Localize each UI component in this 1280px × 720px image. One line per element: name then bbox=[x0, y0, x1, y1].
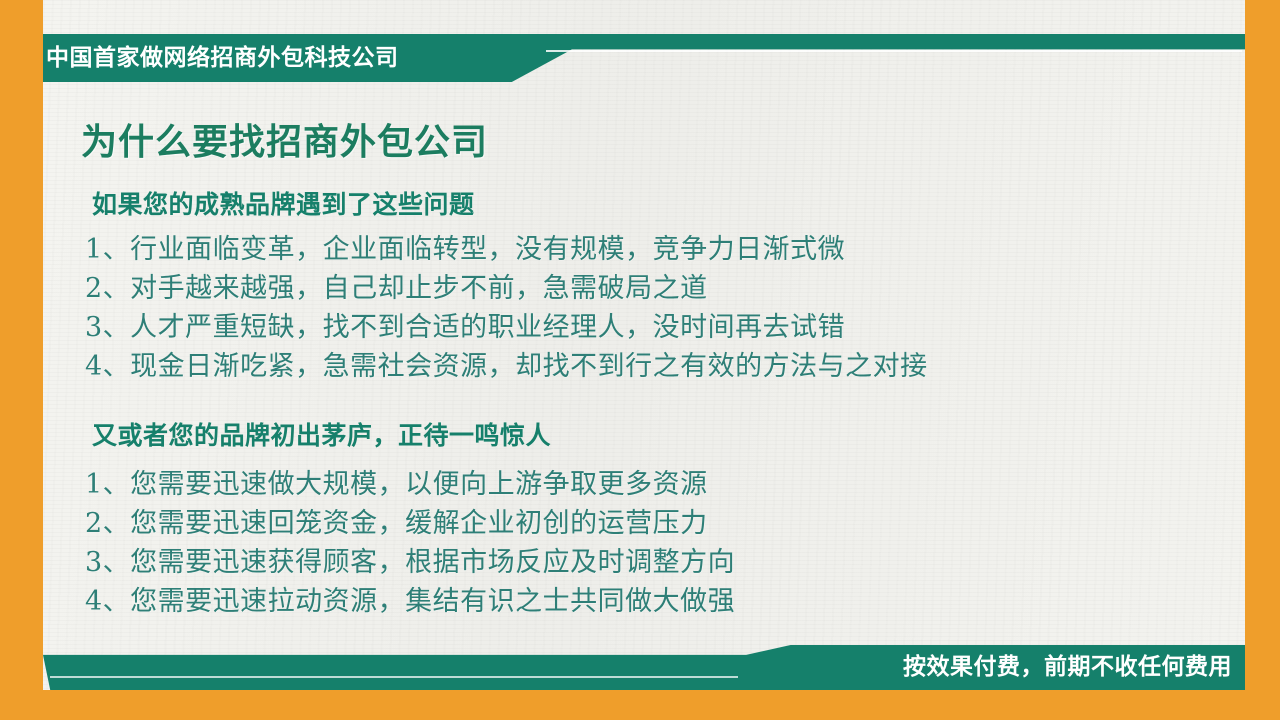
list-item: 2、对手越来越强，自己却止步不前，急需破局之道 bbox=[85, 269, 928, 308]
list-item: 2、您需要迅速回笼资金，缓解企业初创的运营压力 bbox=[85, 504, 735, 543]
header-hairline-divider bbox=[546, 50, 1242, 52]
list-item: 4、现金日渐吃紧，急需社会资源，却找不到行之有效的方法与之对接 bbox=[85, 347, 928, 386]
header-tagline: 中国首家做网络招商外包科技公司 bbox=[46, 40, 516, 76]
slide-content: 为什么要找招商外包公司 如果您的成熟品牌遇到了这些问题 1、行业面临变革，企业面… bbox=[43, 95, 1245, 640]
footer-hairline-divider bbox=[50, 676, 738, 678]
list-item: 4、您需要迅速拉动资源，集结有识之士共同做大做强 bbox=[85, 582, 735, 621]
list-item: 3、您需要迅速获得顾客，根据市场反应及时调整方向 bbox=[85, 543, 735, 582]
slide-root: 中国首家做网络招商外包科技公司 为什么要找招商外包公司 如果您的成熟品牌遇到了这… bbox=[0, 0, 1280, 720]
page-title: 为什么要找招商外包公司 bbox=[81, 113, 488, 165]
list-item: 1、您需要迅速做大规模，以便向上游争取更多资源 bbox=[85, 465, 735, 504]
footer-tagline: 按效果付费，前期不收任何费用 bbox=[903, 650, 1232, 684]
list-item: 1、行业面临变革，企业面临转型，没有规模，竞争力日渐式微 bbox=[85, 230, 928, 269]
section-heading-startup: 又或者您的品牌初出茅庐，正待一鸣惊人 bbox=[92, 416, 551, 452]
section-heading-problems: 如果您的成熟品牌遇到了这些问题 bbox=[92, 185, 475, 221]
startup-needs-list: 1、您需要迅速做大规模，以便向上游争取更多资源 2、您需要迅速回笼资金，缓解企业… bbox=[85, 465, 735, 621]
problem-list: 1、行业面临变革，企业面临转型，没有规模，竞争力日渐式微 2、对手越来越强，自己… bbox=[85, 230, 928, 386]
list-item: 3、人才严重短缺，找不到合适的职业经理人，没时间再去试错 bbox=[85, 308, 928, 347]
